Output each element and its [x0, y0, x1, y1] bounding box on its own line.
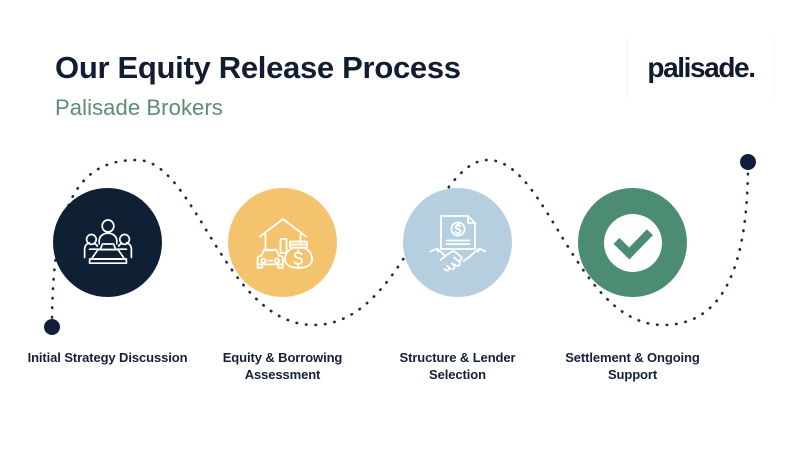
- header-block: Our Equity Release Process Palisade Brok…: [55, 48, 575, 122]
- process-step-3[interactable]: Structure & Lender Selection: [370, 188, 545, 383]
- step-1-circle[interactable]: [53, 188, 162, 297]
- step-3-circle[interactable]: [403, 188, 512, 297]
- document-handshake-icon: [427, 213, 489, 273]
- step-4-label: Settlement & Ongoing Support: [549, 349, 717, 383]
- step-4-circle[interactable]: [578, 188, 687, 297]
- process-step-2[interactable]: Equity & Borrowing Assessment: [195, 188, 370, 383]
- connector-end-dot: [740, 154, 756, 170]
- step-3-label: Structure & Lender Selection: [374, 349, 542, 383]
- step-1-label: Initial Strategy Discussion: [24, 349, 192, 366]
- infographic-canvas: Our Equity Release Process Palisade Brok…: [0, 0, 812, 451]
- brand-logo-text: palisade.: [647, 54, 754, 82]
- step-2-circle[interactable]: [228, 188, 337, 297]
- page-title: Our Equity Release Process: [55, 48, 575, 88]
- process-steps: Initial Strategy Discussion: [0, 188, 812, 383]
- brand-logo: palisade.: [627, 37, 775, 99]
- house-car-money-bag-icon: [252, 214, 314, 272]
- process-step-4[interactable]: Settlement & Ongoing Support: [545, 188, 720, 383]
- step-2-label: Equity & Borrowing Assessment: [199, 349, 367, 383]
- page-subtitle: Palisade Brokers: [55, 94, 575, 122]
- check-circle-icon: [593, 203, 673, 283]
- meeting-table-icon: [77, 215, 139, 271]
- process-step-1[interactable]: Initial Strategy Discussion: [20, 188, 195, 366]
